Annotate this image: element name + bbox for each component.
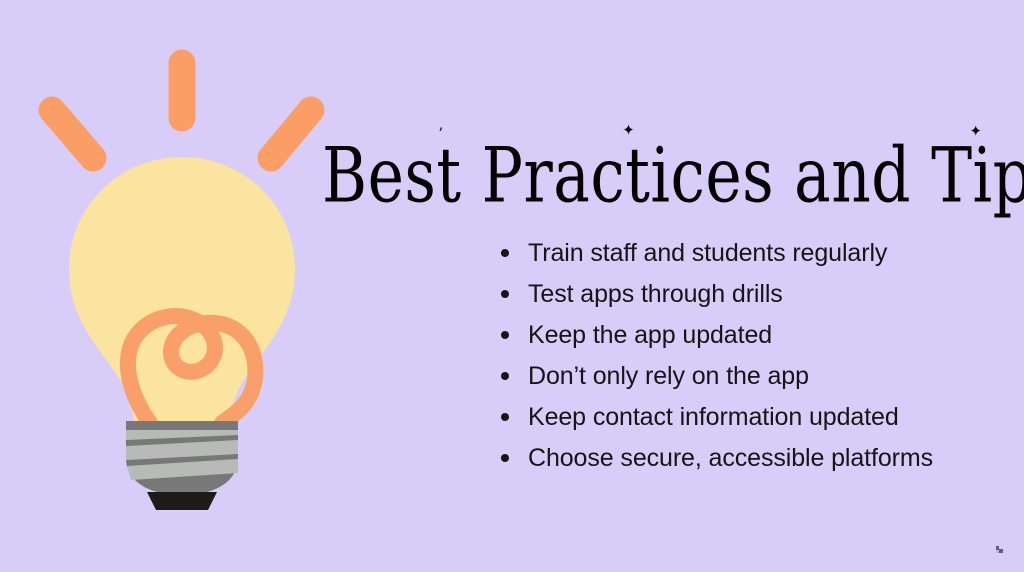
sparkle-icon: ✦ [970,124,983,139]
list-item: Keep the app updated [498,318,998,352]
bullet-dot-icon [501,413,509,421]
bullet-dot-icon [501,290,509,298]
title-part-4: ps [993,131,1024,220]
bullet-dot-icon [501,331,509,339]
title-sparkle-ti: ti✦ [625,130,670,223]
title-part-3: ces and T [670,131,972,220]
list-item-label: Test apps through drills [528,280,783,308]
corner-artifact [996,546,1003,553]
list-item: Test apps through drills [498,277,998,311]
list-item-label: Choose secure, accessible platforms [528,444,933,472]
ray-right-icon [271,110,311,158]
tips-list: Train staff and students regularly Test … [498,236,998,482]
bulb-base [126,421,238,510]
corner-artifact-notch [999,546,1003,549]
corner-artifact-speck [996,550,999,553]
list-item-label: Keep the app updated [528,321,772,349]
title-swash-t: t’ [436,130,461,223]
lightbulb-icon [30,40,330,510]
list-item: Choose secure, accessible platforms [498,441,998,475]
list-item: Keep contact information updated [498,400,998,434]
title-part-2: Prac [462,131,626,220]
list-item-label: Keep contact information updated [528,403,899,431]
list-item-label: Train staff and students regularly [528,239,887,267]
page-title: Best’ Practi✦ces and Ti✦ps [322,130,975,223]
bullet-dot-icon [501,372,509,380]
light-rays-group [52,63,311,158]
bullet-dot-icon [501,454,509,462]
title-part-1: Bes [322,131,436,220]
slide-canvas: Best’ Practi✦ces and Ti✦ps Train staff a… [0,0,1024,572]
ray-left-icon [52,110,93,158]
list-item-label: Don’t only rely on the app [528,362,809,390]
bullet-dot-icon [501,249,509,257]
list-item: Don’t only rely on the app [498,359,998,393]
swash-curl-icon: ’ [438,126,443,141]
sparkle-icon: ✦ [622,123,635,138]
list-item: Train staff and students regularly [498,236,998,270]
title-sparkle-i: i✦ [973,130,993,223]
